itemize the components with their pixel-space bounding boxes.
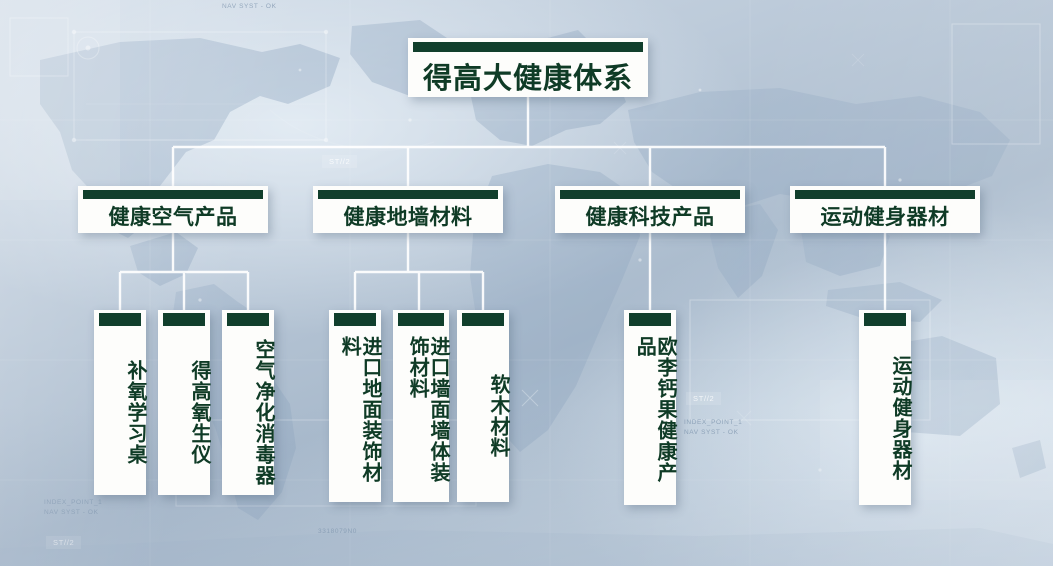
branch-node-1[interactable]: 健康空气产品 xyxy=(78,186,268,233)
root-node[interactable]: 得高大健康体系 xyxy=(408,38,648,97)
leaf-node-1-3[interactable]: 空气净化消毒器 xyxy=(222,310,274,495)
leaf-node-2-3[interactable]: 软木材料 xyxy=(457,310,509,502)
leaf-node-1-1[interactable]: 补氧学习桌 xyxy=(94,310,146,495)
leaf-node-1-3-label: 空气净化消毒器 xyxy=(222,330,274,489)
leaf-node-2-1-cap xyxy=(334,313,376,326)
leaf-node-1-1-cap xyxy=(99,313,141,326)
root-node-cap xyxy=(413,42,643,52)
hud-code-label: 3318079N0 xyxy=(318,527,357,537)
hud-chip-bottom-left: ST//2 xyxy=(46,536,81,549)
leaf-node-2-3-label: 软木材料 xyxy=(457,330,509,496)
leaf-node-2-1-label: 进口地面装饰材料 xyxy=(329,330,381,496)
leaf-node-1-3-cap xyxy=(227,313,269,326)
leaf-node-2-3-cap xyxy=(462,313,504,326)
leaf-node-1-1-label: 补氧学习桌 xyxy=(94,330,146,489)
branch-node-3-label: 健康科技产品 xyxy=(555,198,745,233)
leaf-node-4-1-label: 运动健身器材 xyxy=(859,330,911,499)
hud-index-label-right: INDEX_POINT_1 NAV SYST - OK xyxy=(684,418,742,438)
leaf-node-2-1[interactable]: 进口地面装饰材料 xyxy=(329,310,381,502)
leaf-node-2-2[interactable]: 进口墙面墙体装饰材料 xyxy=(393,310,449,502)
leaf-node-1-2[interactable]: 得高氧生仪 xyxy=(158,310,210,495)
branch-node-3[interactable]: 健康科技产品 xyxy=(555,186,745,233)
branch-node-2[interactable]: 健康地墙材料 xyxy=(313,186,503,233)
hud-top-label: NAV SYST - OK xyxy=(222,2,277,12)
root-node-label: 得高大健康体系 xyxy=(408,54,648,97)
hud-index-label-left: INDEX_POINT_1 NAV SYST - OK xyxy=(44,498,102,518)
leaf-node-3-1-label: 欧李钙果健康产品 xyxy=(624,330,676,499)
leaf-node-3-1[interactable]: 欧李钙果健康产品 xyxy=(624,310,676,505)
leaf-node-4-1-cap xyxy=(864,313,906,326)
leaf-node-3-1-cap xyxy=(629,313,671,326)
leaf-node-2-2-label: 进口墙面墙体装饰材料 xyxy=(393,330,449,496)
leaf-node-1-2-label: 得高氧生仪 xyxy=(158,330,210,489)
leaf-node-2-2-cap xyxy=(398,313,444,326)
branch-node-2-label: 健康地墙材料 xyxy=(313,198,503,233)
hud-chip-right: ST//2 xyxy=(686,392,721,405)
branch-node-1-label: 健康空气产品 xyxy=(78,198,268,233)
branch-node-4-label: 运动健身器材 xyxy=(790,198,980,233)
leaf-node-1-2-cap xyxy=(163,313,205,326)
leaf-node-4-1[interactable]: 运动健身器材 xyxy=(859,310,911,505)
branch-node-4[interactable]: 运动健身器材 xyxy=(790,186,980,233)
hud-chip-center: ST//2 xyxy=(322,155,357,168)
